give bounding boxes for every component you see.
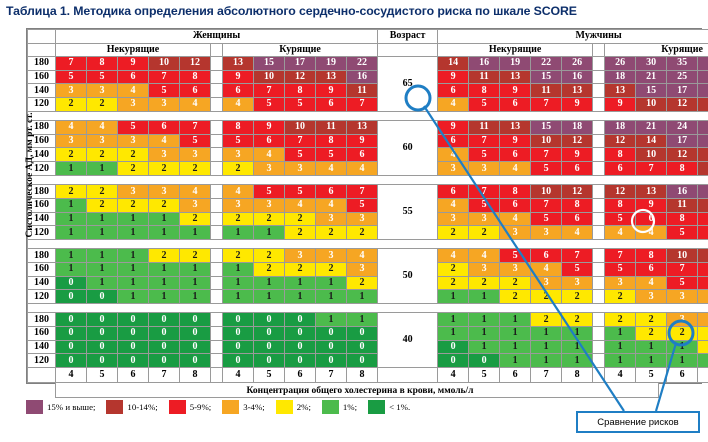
gap-women (211, 313, 223, 327)
legend-label-3: 3-4%; (243, 402, 265, 412)
gap-men (593, 198, 605, 212)
cell-women-55-nonsmoker-160-c4: 2 (149, 198, 180, 212)
cell-women-55-nonsmoker-140-c4: 1 (149, 212, 180, 226)
gap-men (593, 276, 605, 290)
cell-men-50-nonsmoker-120-c1: 1 (438, 290, 469, 304)
cell-women-60-nonsmoker-120-c3: 2 (118, 162, 149, 176)
cell-women-40-nonsmoker-160-c4: 0 (149, 327, 180, 341)
chol-tick-men-s-5: 5 (636, 368, 667, 383)
cell-men-55-nonsmoker-180-c4: 10 (531, 185, 562, 199)
cell-women-60-nonsmoker-160-c5: 5 (180, 134, 211, 148)
cell-men-50-nonsmoker-140-c3: 2 (500, 276, 531, 290)
chol-tick-women-s-8: 8 (347, 368, 378, 383)
gap-women (211, 290, 223, 304)
table-row: 16000000000001111112223 (28, 327, 708, 341)
cell-men-65-nonsmoker-160-c1: 9 (438, 70, 469, 84)
cell-men-40-nonsmoker-180-c4: 2 (531, 313, 562, 327)
cell-men-55-smoker-120-c1: 4 (605, 226, 636, 240)
cell-men-55-nonsmoker-120-c4: 3 (531, 226, 562, 240)
cell-women-60-smoker-160-c5: 9 (347, 134, 378, 148)
cell-men-50-smoker-120-c4: 4 (698, 290, 708, 304)
cell-women-40-nonsmoker-180-c5: 0 (180, 313, 211, 327)
cell-women-55-smoker-140-c3: 2 (285, 212, 316, 226)
gap-women (211, 226, 223, 240)
cell-women-50-smoker-160-c3: 2 (285, 262, 316, 276)
cell-women-60-nonsmoker-120-c4: 2 (149, 162, 180, 176)
table-row: 140111122223333456568911 (28, 212, 708, 226)
cell-men-55-nonsmoker-160-c2: 5 (469, 198, 500, 212)
cell-women-50-nonsmoker-140-c1: 0 (56, 276, 87, 290)
cell-women-55-smoker-180-c2: 5 (254, 185, 285, 199)
cell-men-65-nonsmoker-140-c5: 13 (562, 84, 593, 98)
cell-men-55-nonsmoker-140-c2: 3 (469, 212, 500, 226)
cell-men-55-nonsmoker-160-c1: 4 (438, 198, 469, 212)
cell-women-60-nonsmoker-180-c3: 5 (118, 121, 149, 135)
cell-women-60-smoker-140-c5: 6 (347, 148, 378, 162)
table-row: 160556789101213169111315161821252934 (28, 70, 708, 84)
cell-women-55-smoker-160-c1: 3 (223, 198, 254, 212)
cell-men-65-nonsmoker-160-c2: 11 (469, 70, 500, 84)
cell-men-60-smoker-120-c2: 7 (636, 162, 667, 176)
age-cell-60: 60 (378, 121, 438, 176)
cell-women-40-nonsmoker-140-c5: 0 (180, 340, 211, 354)
cell-men-40-nonsmoker-180-c1: 1 (438, 313, 469, 327)
cell-women-50-nonsmoker-120-c1: 0 (56, 290, 87, 304)
cell-women-50-smoker-120-c5: 1 (347, 290, 378, 304)
cell-women-50-nonsmoker-180-c5: 2 (180, 249, 211, 263)
legend-swatch-0 (26, 400, 43, 414)
cell-women-40-smoker-180-c3: 0 (285, 313, 316, 327)
age-cell-55: 55 (378, 185, 438, 240)
cell-men-65-nonsmoker-160-c4: 15 (531, 70, 562, 84)
cell-women-65-nonsmoker-120-c4: 3 (149, 98, 180, 112)
cell-women-65-nonsmoker-180-c3: 9 (118, 57, 149, 71)
cell-women-60-nonsmoker-120-c5: 2 (180, 162, 211, 176)
chol-corner (28, 368, 56, 383)
cell-men-55-nonsmoker-140-c5: 6 (562, 212, 593, 226)
cell-women-60-smoker-160-c1: 5 (223, 134, 254, 148)
cell-men-60-nonsmoker-180-c4: 15 (531, 121, 562, 135)
cell-women-60-nonsmoker-160-c4: 4 (149, 134, 180, 148)
gap-women (211, 185, 223, 199)
header-men: Мужчины (438, 30, 708, 44)
cell-men-60-smoker-160-c1: 12 (605, 134, 636, 148)
cell-women-40-smoker-160-c3: 0 (285, 327, 316, 341)
cell-men-65-nonsmoker-140-c3: 9 (500, 84, 531, 98)
cell-men-40-nonsmoker-180-c2: 1 (469, 313, 500, 327)
cell-men-60-smoker-160-c3: 17 (667, 134, 698, 148)
legend-item-0: 15% и выше; (26, 400, 95, 414)
chol-tick-women-ns-5: 5 (87, 368, 118, 383)
cell-women-65-nonsmoker-180-c1: 7 (56, 57, 87, 71)
cell-women-40-smoker-180-c4: 1 (316, 313, 347, 327)
comparison-callout: Сравнение рисков (576, 411, 700, 433)
chol-tick-men-ns-4: 4 (438, 368, 469, 383)
gap-women (211, 198, 223, 212)
cell-men-60-nonsmoker-180-c1: 9 (438, 121, 469, 135)
cell-men-60-nonsmoker-180-c2: 11 (469, 121, 500, 135)
legend-label-6: < 1%. (389, 402, 410, 412)
cell-men-60-smoker-180-c3: 24 (667, 121, 698, 135)
cell-women-55-smoker-180-c4: 6 (316, 185, 347, 199)
cell-women-50-smoker-180-c1: 2 (223, 249, 254, 263)
cell-men-60-smoker-120-c1: 6 (605, 162, 636, 176)
table-row: 160111111222323345567810 (28, 262, 708, 276)
table-row: 1804456789101113609111315181821242833 (28, 121, 708, 135)
cell-women-55-nonsmoker-160-c2: 2 (87, 198, 118, 212)
cell-women-55-smoker-180-c1: 4 (223, 185, 254, 199)
cell-women-60-smoker-120-c5: 4 (347, 162, 378, 176)
cell-women-40-smoker-120-c5: 0 (347, 354, 378, 368)
cell-women-55-smoker-120-c3: 2 (285, 226, 316, 240)
gap-women (211, 70, 223, 84)
cell-women-65-smoker-160-c1: 9 (223, 70, 254, 84)
chol-tick-women-ns-7: 7 (149, 368, 180, 383)
cell-women-50-smoker-140-c3: 1 (285, 276, 316, 290)
chol-tick-men-ns-6: 6 (500, 368, 531, 383)
cell-women-65-nonsmoker-160-c5: 8 (180, 70, 211, 84)
gap-men (593, 290, 605, 304)
cell-men-40-nonsmoker-160-c2: 1 (469, 327, 500, 341)
cell-women-40-nonsmoker-180-c3: 0 (118, 313, 149, 327)
legend-item-2: 5-9%; (169, 400, 212, 414)
cell-men-50-nonsmoker-140-c2: 2 (469, 276, 500, 290)
cell-women-55-nonsmoker-180-c3: 3 (118, 185, 149, 199)
chol-tick-men-ns-8: 8 (562, 368, 593, 383)
header-women-nonsmokers: Некурящие (56, 43, 211, 57)
cell-men-55-nonsmoker-140-c4: 5 (531, 212, 562, 226)
legend-item-5: 1%; (322, 400, 357, 414)
cell-women-50-nonsmoker-140-c5: 1 (180, 276, 211, 290)
cell-men-60-nonsmoker-140-c1: 4 (438, 148, 469, 162)
cell-women-40-smoker-140-c4: 0 (316, 340, 347, 354)
cell-women-50-smoker-140-c5: 2 (347, 276, 378, 290)
cell-men-50-nonsmoker-120-c5: 2 (562, 290, 593, 304)
cell-men-40-smoker-180-c3: 3 (667, 313, 698, 327)
cell-women-50-nonsmoker-120-c4: 1 (149, 290, 180, 304)
cell-women-60-smoker-160-c3: 7 (285, 134, 316, 148)
cell-women-50-smoker-160-c5: 3 (347, 262, 378, 276)
cell-women-50-nonsmoker-140-c2: 1 (87, 276, 118, 290)
risk-legend: 15% и выше;10-14%;5-9%;3-4%;2%;1%;< 1%. (26, 400, 421, 414)
table-row: 1807891012131517192265141619222626303541… (28, 57, 708, 71)
cell-women-55-nonsmoker-180-c1: 2 (56, 185, 87, 199)
chol-tick-women-ns-8: 8 (180, 368, 211, 383)
cell-men-60-nonsmoker-120-c4: 5 (531, 162, 562, 176)
age-cell-40: 40 (378, 313, 438, 368)
block-spacer-cell (28, 239, 708, 248)
gap-men (593, 262, 605, 276)
table-header-smoking: НекурящиеКурящиеНекурящиеКурящие (28, 43, 708, 57)
cell-women-60-smoker-120-c2: 3 (254, 162, 285, 176)
cell-women-50-nonsmoker-160-c5: 1 (180, 262, 211, 276)
cell-women-60-smoker-140-c2: 4 (254, 148, 285, 162)
corner-cell-2 (28, 43, 56, 57)
gap-women (211, 98, 223, 112)
gap-men (593, 327, 605, 341)
cell-men-55-smoker-120-c3: 5 (667, 226, 698, 240)
gap-women (211, 276, 223, 290)
cell-women-55-nonsmoker-120-c2: 1 (87, 226, 118, 240)
gap-men (593, 98, 605, 112)
cell-men-40-nonsmoker-120-c3: 1 (500, 354, 531, 368)
cell-men-40-smoker-140-c3: 1 (667, 340, 698, 354)
score-risk-table: ЖенщиныВозрастМужчиныНекурящиеКурящиеНек… (26, 28, 702, 384)
cell-women-65-smoker-160-c3: 12 (285, 70, 316, 84)
table-row: 18022334455675567810121213161922 (28, 185, 708, 199)
cell-women-65-smoker-120-c4: 6 (316, 98, 347, 112)
cell-women-55-nonsmoker-180-c2: 2 (87, 185, 118, 199)
chol-gap-1 (211, 368, 223, 383)
cell-women-60-smoker-140-c1: 3 (223, 148, 254, 162)
table-row: 1800000000011401112222334 (28, 313, 708, 327)
legend-swatch-2 (169, 400, 186, 414)
gap-men (593, 134, 605, 148)
cell-men-65-smoker-140-c2: 15 (636, 84, 667, 98)
cell-men-65-smoker-180-c4: 41 (698, 57, 708, 71)
cell-men-60-nonsmoker-120-c1: 3 (438, 162, 469, 176)
cell-women-50-smoker-140-c1: 1 (223, 276, 254, 290)
bp-label-160: 160 (28, 327, 56, 341)
cell-women-65-nonsmoker-120-c5: 4 (180, 98, 211, 112)
cell-men-50-smoker-140-c4: 6 (698, 276, 708, 290)
cell-men-40-nonsmoker-120-c4: 1 (531, 354, 562, 368)
page-title: Таблица 1. Методика определения абсолютн… (6, 4, 706, 18)
cell-women-40-nonsmoker-160-c1: 0 (56, 327, 87, 341)
cell-men-40-smoker-120-c2: 1 (636, 354, 667, 368)
cell-women-50-smoker-160-c1: 1 (223, 262, 254, 276)
age-cell-50: 50 (378, 249, 438, 304)
cell-women-50-nonsmoker-180-c1: 1 (56, 249, 87, 263)
cell-women-50-smoker-120-c4: 1 (316, 290, 347, 304)
cell-men-40-nonsmoker-140-c3: 1 (500, 340, 531, 354)
cell-men-50-nonsmoker-140-c5: 3 (562, 276, 593, 290)
cell-men-40-nonsmoker-160-c4: 1 (531, 327, 562, 341)
cell-women-55-nonsmoker-140-c3: 1 (118, 212, 149, 226)
cell-women-40-smoker-160-c4: 0 (316, 327, 347, 341)
cell-women-60-smoker-160-c2: 6 (254, 134, 285, 148)
cell-men-55-nonsmoker-120-c3: 3 (500, 226, 531, 240)
cell-women-55-smoker-160-c4: 4 (316, 198, 347, 212)
gap-women (211, 162, 223, 176)
cell-women-65-nonsmoker-160-c2: 5 (87, 70, 118, 84)
cell-women-60-nonsmoker-180-c1: 4 (56, 121, 87, 135)
cell-men-50-smoker-180-c1: 7 (605, 249, 636, 263)
table-row: 160333455678967910121214172024 (28, 134, 708, 148)
cell-men-65-nonsmoker-120-c2: 5 (469, 98, 500, 112)
cell-women-65-nonsmoker-140-c2: 3 (87, 84, 118, 98)
table-row: 1403345667891168911131315172024 (28, 84, 708, 98)
cell-women-65-smoker-120-c5: 7 (347, 98, 378, 112)
cell-men-60-nonsmoker-180-c5: 18 (562, 121, 593, 135)
cell-women-65-nonsmoker-160-c1: 5 (56, 70, 87, 84)
block-spacer (28, 111, 708, 120)
cell-men-65-smoker-120-c3: 12 (667, 98, 698, 112)
cell-women-65-smoker-160-c2: 10 (254, 70, 285, 84)
cell-men-50-smoker-160-c2: 6 (636, 262, 667, 276)
cell-women-40-nonsmoker-140-c2: 0 (87, 340, 118, 354)
cell-women-65-nonsmoker-180-c4: 10 (149, 57, 180, 71)
cell-women-55-smoker-120-c5: 2 (347, 226, 378, 240)
legend-swatch-1 (106, 400, 123, 414)
header-men-nonsmokers: Некурящие (438, 43, 593, 57)
cell-men-65-nonsmoker-180-c1: 14 (438, 57, 469, 71)
chol-tick-men-ns-7: 7 (531, 368, 562, 383)
cell-men-65-smoker-120-c4: 14 (698, 98, 708, 112)
cell-men-65-nonsmoker-140-c4: 11 (531, 84, 562, 98)
cell-women-60-smoker-120-c1: 2 (223, 162, 254, 176)
cell-men-55-nonsmoker-120-c5: 4 (562, 226, 593, 240)
gap-men (593, 340, 605, 354)
cell-men-50-nonsmoker-120-c4: 2 (531, 290, 562, 304)
chol-tick-women-s-7: 7 (316, 368, 347, 383)
cell-women-65-smoker-140-c5: 11 (347, 84, 378, 98)
cell-women-65-smoker-140-c4: 9 (316, 84, 347, 98)
cell-women-50-nonsmoker-180-c2: 1 (87, 249, 118, 263)
cell-men-50-smoker-180-c4: 12 (698, 249, 708, 263)
cell-men-55-smoker-160-c2: 9 (636, 198, 667, 212)
cholesterol-axis-row: 45678456784567845678 (28, 368, 708, 383)
cell-women-50-smoker-180-c3: 3 (285, 249, 316, 263)
cell-men-55-nonsmoker-160-c5: 8 (562, 198, 593, 212)
cell-women-50-nonsmoker-120-c2: 0 (87, 290, 118, 304)
cell-women-65-smoker-160-c4: 13 (316, 70, 347, 84)
legend-label-4: 2%; (297, 402, 311, 412)
cell-men-55-nonsmoker-140-c3: 4 (500, 212, 531, 226)
bp-label-160: 160 (28, 70, 56, 84)
gap-men (593, 226, 605, 240)
table-row: 120223344556745679910121417 (28, 98, 708, 112)
cell-women-55-smoker-180-c5: 7 (347, 185, 378, 199)
cell-men-40-smoker-120-c1: 1 (605, 354, 636, 368)
legend-swatch-3 (222, 400, 239, 414)
cell-men-55-smoker-140-c4: 9 (698, 212, 708, 226)
cell-men-40-smoker-160-c4: 2 (698, 327, 708, 341)
cell-men-55-smoker-160-c4: 13 (698, 198, 708, 212)
cell-men-65-nonsmoker-180-c3: 19 (500, 57, 531, 71)
gap-men (593, 212, 605, 226)
cell-men-65-smoker-160-c4: 29 (698, 70, 708, 84)
cell-women-50-smoker-120-c2: 1 (254, 290, 285, 304)
cell-women-60-nonsmoker-140-c3: 2 (118, 148, 149, 162)
cell-women-55-nonsmoker-120-c3: 1 (118, 226, 149, 240)
cell-men-40-smoker-180-c4: 3 (698, 313, 708, 327)
cell-women-65-nonsmoker-160-c3: 6 (118, 70, 149, 84)
cell-women-65-nonsmoker-140-c4: 5 (149, 84, 180, 98)
cell-men-55-smoker-180-c1: 12 (605, 185, 636, 199)
cell-men-60-smoker-140-c3: 12 (667, 148, 698, 162)
cell-women-50-smoker-160-c4: 2 (316, 262, 347, 276)
bp-label-120: 120 (28, 354, 56, 368)
block-spacer (28, 304, 708, 313)
cell-women-65-smoker-180-c2: 15 (254, 57, 285, 71)
table-row: 14000000000000111111122 (28, 340, 708, 354)
cell-men-40-smoker-160-c2: 2 (636, 327, 667, 341)
bp-label-120: 120 (28, 290, 56, 304)
header-men-smokers: Курящие (605, 43, 708, 57)
table-row: 12000111111111122223345 (28, 290, 708, 304)
legend-item-4: 2%; (276, 400, 311, 414)
cell-women-40-nonsmoker-120-c2: 0 (87, 354, 118, 368)
cell-men-40-nonsmoker-160-c3: 1 (500, 327, 531, 341)
age-cell-65: 65 (378, 57, 438, 112)
cell-men-50-nonsmoker-180-c1: 4 (438, 249, 469, 263)
cell-women-55-smoker-120-c2: 1 (254, 226, 285, 240)
cell-men-65-nonsmoker-120-c5: 9 (562, 98, 593, 112)
cell-men-65-smoker-180-c3: 35 (667, 57, 698, 71)
cell-men-40-nonsmoker-140-c1: 0 (438, 340, 469, 354)
cell-men-55-smoker-160-c1: 8 (605, 198, 636, 212)
cell-men-40-smoker-120-c4: 1 (698, 354, 708, 368)
cell-men-55-smoker-120-c4: 6 (698, 226, 708, 240)
cell-women-60-nonsmoker-140-c1: 2 (56, 148, 87, 162)
legend-label-0: 15% и выше; (47, 402, 95, 412)
bp-label-180: 180 (28, 313, 56, 327)
cell-men-60-nonsmoker-160-c4: 10 (531, 134, 562, 148)
gap-women (211, 212, 223, 226)
cell-women-50-nonsmoker-160-c2: 1 (87, 262, 118, 276)
cell-women-55-nonsmoker-180-c4: 3 (149, 185, 180, 199)
cell-women-40-nonsmoker-140-c1: 0 (56, 340, 87, 354)
bp-label-140: 140 (28, 340, 56, 354)
cell-men-40-nonsmoker-160-c5: 1 (562, 327, 593, 341)
cell-women-40-smoker-120-c2: 0 (254, 354, 285, 368)
legend-item-6: < 1%. (368, 400, 410, 414)
cell-women-65-nonsmoker-180-c5: 12 (180, 57, 211, 71)
cell-men-65-smoker-120-c2: 10 (636, 98, 667, 112)
gap-men (593, 84, 605, 98)
cell-women-60-nonsmoker-120-c2: 1 (87, 162, 118, 176)
cell-men-50-smoker-160-c1: 5 (605, 262, 636, 276)
cell-women-65-smoker-180-c5: 22 (347, 57, 378, 71)
cell-men-65-smoker-140-c1: 13 (605, 84, 636, 98)
cell-men-65-smoker-160-c1: 18 (605, 70, 636, 84)
cell-men-55-nonsmoker-120-c1: 2 (438, 226, 469, 240)
cell-men-55-nonsmoker-180-c5: 12 (562, 185, 593, 199)
gapcell (211, 43, 223, 57)
cell-men-65-smoker-120-c1: 9 (605, 98, 636, 112)
cell-men-60-nonsmoker-160-c2: 7 (469, 134, 500, 148)
cell-women-55-smoker-140-c1: 2 (223, 212, 254, 226)
cell-men-40-nonsmoker-140-c2: 1 (469, 340, 500, 354)
cell-women-55-nonsmoker-140-c1: 1 (56, 212, 87, 226)
table-row: 16012223334454567889111316 (28, 198, 708, 212)
legend-item-3: 3-4%; (222, 400, 265, 414)
cell-men-50-smoker-120-c1: 2 (605, 290, 636, 304)
block-spacer (28, 239, 708, 248)
gap-men (593, 354, 605, 368)
gap-men (593, 148, 605, 162)
gap-women (211, 84, 223, 98)
cell-women-40-nonsmoker-160-c3: 0 (118, 327, 149, 341)
cell-women-40-nonsmoker-120-c4: 0 (149, 354, 180, 368)
cell-women-55-smoker-160-c2: 3 (254, 198, 285, 212)
gap-women (211, 148, 223, 162)
cell-women-55-nonsmoker-120-c5: 1 (180, 226, 211, 240)
cell-men-65-nonsmoker-160-c3: 13 (500, 70, 531, 84)
cell-women-60-nonsmoker-160-c3: 3 (118, 134, 149, 148)
cell-men-40-smoker-140-c2: 1 (636, 340, 667, 354)
cell-women-60-smoker-160-c4: 8 (316, 134, 347, 148)
cell-men-50-smoker-120-c3: 3 (667, 290, 698, 304)
cell-men-60-nonsmoker-120-c2: 3 (469, 162, 500, 176)
gap-men (593, 313, 605, 327)
cell-men-55-smoker-140-c1: 5 (605, 212, 636, 226)
gap-women (211, 354, 223, 368)
chol-gap-2 (593, 368, 605, 383)
gapcell2 (593, 43, 605, 57)
cell-men-60-nonsmoker-120-c5: 6 (562, 162, 593, 176)
